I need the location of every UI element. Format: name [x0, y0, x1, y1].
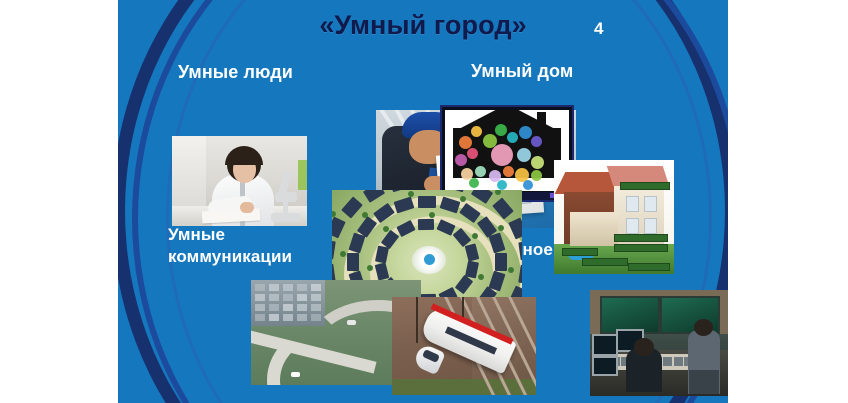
- label-smart-people: Умные люди: [178, 62, 293, 83]
- slide-canvas: «Умный город» 4 Умные люди Умный дом Умн…: [0, 0, 848, 403]
- label-smart-communications: Умные коммуникации: [168, 224, 328, 269]
- presentation-slide: «Умный город» 4 Умные люди Умный дом Умн…: [118, 0, 728, 403]
- scientist-photo: [172, 136, 307, 226]
- high-speed-train-photo: [392, 297, 536, 395]
- slide-title: «Умный город»: [118, 10, 728, 41]
- cutaway-house-photo: [554, 160, 674, 274]
- label-smart-home: Умный дом: [471, 61, 573, 82]
- slide-number: 4: [594, 19, 603, 39]
- control-room-photo: [590, 290, 728, 396]
